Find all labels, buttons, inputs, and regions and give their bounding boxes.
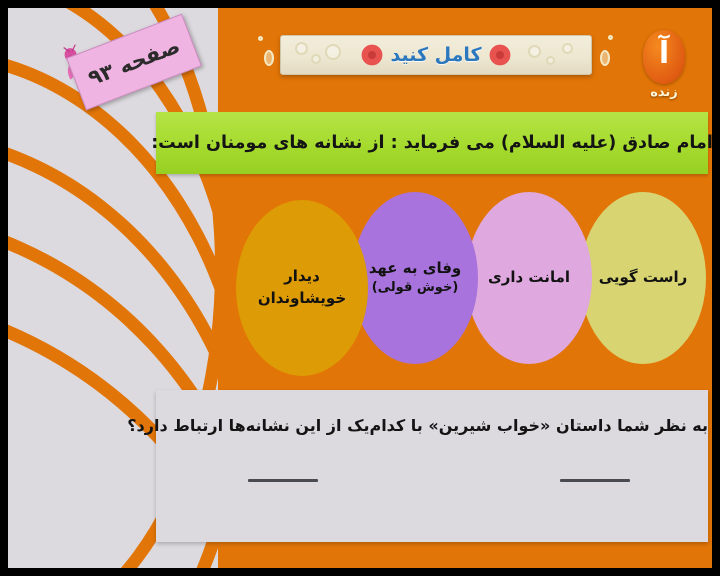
tv-broadcast-frame: کامل کنید آ زنده صفحه ۹۳ امام صادق (علیه…: [0, 0, 720, 576]
sign-label-line1: راست گویی: [599, 268, 688, 286]
bubble-decor-icon: [546, 56, 555, 65]
hadith-text: امام صادق (علیه السلام) می فرماید : از ن…: [151, 133, 712, 153]
sign-label: امانت داری: [482, 267, 576, 289]
signs-diagram: دیدار خویشاوندان وفای به عهد (خوش قولی) …: [236, 192, 708, 374]
sign-truthfulness[interactable]: راست گویی: [580, 192, 706, 364]
bubble-decor-icon: [608, 35, 613, 40]
channel-logo: آ زنده: [638, 30, 690, 100]
live-badge: زنده: [638, 85, 690, 100]
flower-icon: [362, 45, 382, 65]
sign-label-line1: وفای به عهد: [369, 259, 462, 277]
sign-label: راست گویی: [593, 267, 694, 289]
flower-icon: [490, 45, 510, 65]
question-panel: به نظر شما داستان «خواب شیرین» با کدام‌ی…: [156, 390, 708, 542]
activity-title-banner: کامل کنید: [280, 35, 592, 75]
bubble-decor-icon: [325, 44, 341, 60]
hadith-banner: امام صادق (علیه السلام) می فرماید : از ن…: [156, 112, 708, 174]
slide-stage: کامل کنید آ زنده صفحه ۹۳ امام صادق (علیه…: [8, 8, 712, 568]
sign-label-line2: خویشاوندان: [258, 289, 346, 307]
answer-blanks: [156, 469, 708, 491]
sign-label-line1: امانت داری: [488, 268, 570, 286]
bubble-decor-icon: [295, 42, 308, 55]
bubble-decor-icon: [600, 50, 610, 66]
sign-label: وفای به عهد (خوش قولی): [363, 258, 468, 299]
bubble-decor-icon: [264, 50, 274, 66]
sign-keeping-promises[interactable]: وفای به عهد (خوش قولی): [352, 192, 478, 364]
bubble-decor-icon: [311, 54, 321, 64]
sign-trustworthiness[interactable]: امانت داری: [466, 192, 592, 364]
sign-label-sub: (خوش قولی): [369, 279, 462, 298]
answer-blank-2[interactable]: [248, 479, 318, 482]
channel-logo-mark-icon: آ: [643, 30, 685, 84]
sign-visiting-relatives[interactable]: دیدار خویشاوندان: [236, 200, 368, 376]
bubble-decor-icon: [528, 45, 541, 58]
question-text: به نظر شما داستان «خواب شیرین» با کدام‌ی…: [156, 416, 708, 435]
sign-label-line1: دیدار: [284, 267, 320, 285]
bubble-decor-icon: [258, 36, 263, 41]
answer-blank-1[interactable]: [560, 479, 630, 482]
bubble-decor-icon: [562, 43, 573, 54]
sign-label: دیدار خویشاوندان: [252, 266, 352, 310]
channel-logo-glyph: آ: [643, 37, 685, 71]
activity-title-text: کامل کنید: [390, 44, 481, 66]
